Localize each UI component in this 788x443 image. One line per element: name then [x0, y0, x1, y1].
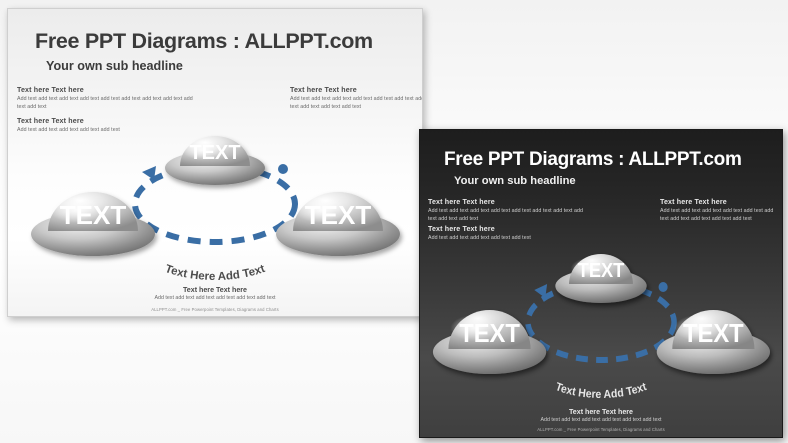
cycle-arrowhead-icon [534, 284, 547, 298]
diagram-node-top-label: TEXT [189, 142, 240, 164]
bottom-caption: Text here Text here Add text add text ad… [8, 286, 422, 301]
text-block-heading: Text here Text here [17, 117, 197, 125]
text-block-top-right-1: Text here Text here Add text add text ad… [290, 86, 423, 111]
text-block-body: Add text add text add text add text add … [290, 95, 423, 111]
page-title: Free PPT Diagrams : ALLPPT.com [444, 149, 742, 171]
diagram-node-right-label: TEXT [305, 200, 372, 230]
slide-preview-canvas: Free PPT Diagrams : ALLPPT.com Your own … [0, 0, 788, 443]
text-block-heading: Text here Text here [660, 198, 782, 206]
cycle-center-label: Text Here Add Text [554, 381, 649, 402]
cycle-diagram: Text Here Add Text TEXT TEXT [30, 134, 400, 289]
caption-heading: Text here Text here [8, 286, 422, 294]
diagram-node-top-label: TEXT [578, 260, 625, 282]
diagram-node-left-label: TEXT [459, 319, 520, 348]
text-block-top-left-1: Text here Text here Add text add text ad… [428, 198, 588, 223]
slide-footer: ALLPPT.com _ Free Powerpoint Templates, … [420, 427, 782, 432]
caption-body: Add text add text add text add text add … [8, 295, 422, 301]
text-block-top-left-1: Text here Text here Add text add text ad… [17, 86, 197, 111]
caption-heading: Text here Text here [420, 408, 782, 416]
page-title: Free PPT Diagrams : ALLPPT.com [35, 29, 373, 54]
text-block-heading: Text here Text here [17, 86, 197, 94]
diagram-node-left-label: TEXT [60, 200, 127, 230]
slide-footer: ALLPPT.com _ Free Powerpoint Templates, … [8, 307, 422, 312]
text-block-body: Add text add text add text add text add … [428, 234, 588, 242]
text-block-body: Add text add text add text add text add … [17, 95, 197, 111]
page-subtitle: Your own sub headline [46, 59, 183, 73]
caption-body: Add text add text add text add text add … [420, 417, 782, 423]
text-block-body: Add text add text add text add text add … [660, 207, 782, 223]
text-block-top-left-2: Text here Text here Add text add text ad… [17, 117, 197, 134]
text-block-body: Add text add text add text add text add … [428, 207, 588, 223]
bottom-caption: Text here Text here Add text add text ad… [420, 408, 782, 423]
text-block-heading: Text here Text here [290, 86, 423, 94]
text-block-heading: Text here Text here [428, 198, 588, 206]
text-block-top-left-2: Text here Text here Add text add text ad… [428, 225, 588, 242]
cycle-diagram: Text Here Add Text TEXT TEXT [432, 252, 770, 407]
page-subtitle: Your own sub headline [454, 175, 576, 187]
diagram-node-right-label: TEXT [683, 319, 744, 348]
light-slide[interactable]: Free PPT Diagrams : ALLPPT.com Your own … [7, 8, 423, 317]
text-block-top-right-1: Text here Text here Add text add text ad… [660, 198, 782, 223]
text-block-heading: Text here Text here [428, 225, 588, 233]
text-block-body: Add text add text add text add text add … [17, 126, 197, 134]
cycle-tail-dot-icon [659, 282, 668, 292]
dark-slide[interactable]: Free PPT Diagrams : ALLPPT.com Your own … [419, 129, 783, 438]
cycle-arrowhead-icon [142, 166, 156, 180]
cycle-tail-dot-icon [278, 164, 288, 174]
cycle-center-label: Text Here Add Text [163, 263, 266, 283]
